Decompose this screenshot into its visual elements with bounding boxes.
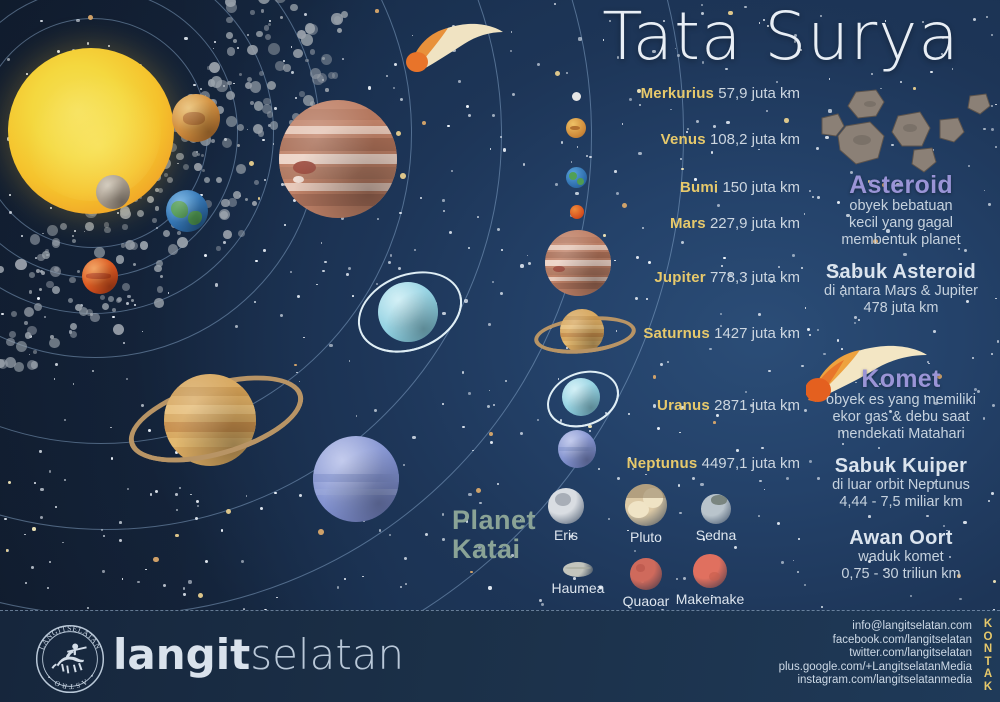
info-block-line: ekor gas & debu saat — [808, 409, 994, 426]
info-block-heading: Asteroid — [808, 172, 994, 198]
dwarf-planet-pluto — [625, 484, 667, 526]
asteroid-belt-rock — [239, 73, 242, 76]
asteroid-belt-rock — [258, 0, 270, 4]
asteroid-belt-rock — [268, 23, 271, 26]
kontak-letter: A — [980, 668, 996, 681]
info-block: Asteroidobyek bebatuankecil yang gagalme… — [808, 172, 994, 250]
planet-distance-row: Mars 227,9 juta km — [670, 216, 800, 231]
asteroid-belt-rock — [9, 331, 16, 338]
asteroid-belt-rock — [247, 45, 258, 56]
asteroid-belt-rock — [238, 230, 245, 237]
asteroid-belt-rock — [160, 275, 163, 278]
dwarf-planet-label: Pluto — [606, 529, 686, 545]
asteroid-belt-rock — [69, 277, 76, 284]
map-planet-mars — [82, 258, 118, 294]
asteroid-belt-rock — [52, 240, 60, 248]
info-block-body: waduk komet0,75 - 30 triliun km — [808, 549, 994, 583]
asteroid-belt-rock — [147, 196, 154, 203]
asteroid-belt-rock — [30, 234, 41, 245]
planet-distance: 227,9 juta km — [706, 215, 800, 232]
asteroid-belt-rock — [137, 210, 144, 217]
asteroid-belt-rock — [176, 153, 184, 161]
info-block-body: di antara Mars & Jupiter478 juta km — [808, 283, 994, 317]
asteroid-belt-rock — [254, 180, 259, 185]
dwarf-planet-item: Makemake — [670, 554, 750, 607]
asteroid-belt-rock — [158, 188, 163, 193]
asteroid-belt-rock — [60, 223, 67, 230]
asteroid-belt-rock — [211, 76, 222, 87]
asteroid-belt-rock — [252, 201, 257, 206]
asteroid-belt-rock — [41, 271, 45, 275]
asteroid-belt-rock — [168, 244, 178, 254]
planet-distance-row: Saturnus 1427 juta km — [643, 326, 800, 341]
dwarf-planet-makemake — [693, 554, 727, 588]
asteroid-belt-rock — [77, 270, 80, 273]
asteroid-belt-rock — [216, 177, 223, 184]
info-block-heading: Komet — [808, 366, 994, 392]
dwarf-planet-label: Sedna — [676, 527, 756, 543]
kontak-letter: K — [980, 618, 996, 631]
asteroid-belt-rock — [222, 138, 232, 148]
asteroid-belt-rock — [75, 304, 82, 311]
asteroid-belt-rock — [34, 303, 42, 311]
planet-distance-row: Venus 108,2 juta km — [661, 132, 800, 147]
info-block-line: mendekati Matahari — [808, 426, 994, 443]
asteroid-belt-rock — [290, 4, 298, 12]
infographic-poster: Tata Surya — [0, 0, 1000, 702]
asteroid-belt-rock — [258, 130, 265, 137]
logo-outer-text: LANGITSELATAN — [37, 624, 104, 651]
asteroid-belt-rock — [122, 283, 130, 291]
asteroid-belt-rock — [24, 307, 34, 317]
asteroid-belt-rock — [131, 299, 134, 302]
map-planet-mercury — [96, 175, 130, 209]
asteroid-belt-rock — [155, 206, 160, 211]
kontak-letter: O — [980, 631, 996, 644]
map-planet-uranus-group — [346, 268, 470, 356]
contact-list: info@langitselatan.comfacebook.com/langi… — [779, 620, 972, 688]
asteroid-belt-rock — [226, 2, 237, 13]
asteroid-belt-rock — [337, 28, 342, 33]
page-title: Tata Surya — [566, 0, 996, 78]
asteroid-belt-rock — [130, 242, 138, 250]
asteroid-belt-rock — [270, 121, 279, 130]
asteroid-belt-rock — [312, 74, 324, 86]
asteroid-belt-rock — [122, 224, 128, 230]
planet-distance: 57,9 juta km — [714, 85, 800, 102]
asteroid-belt-rock — [274, 0, 286, 3]
info-block-body: obyek bebatuankecil yang gagalmembentuk … — [808, 198, 994, 249]
asteroid-belt-rock — [305, 59, 309, 63]
info-block-body: obyek es yang memilikiekor gas & debu sa… — [808, 392, 994, 443]
dwarf-planet-item: Eris — [526, 488, 606, 543]
asteroid-belt-rock — [68, 298, 73, 303]
asteroid-belt-rock — [177, 231, 182, 236]
asteroid-belt-rock — [25, 332, 32, 339]
asteroid-belt-rock — [267, 111, 274, 118]
asteroid-belt-rock — [237, 144, 240, 147]
map-planet-earth — [166, 190, 208, 232]
map-planet-neptune — [313, 436, 399, 522]
dwarf-planet-item: Sedna — [676, 494, 756, 543]
asteroid-belt-rock — [39, 288, 42, 291]
asteroid-belt-rock — [16, 341, 27, 352]
dwarf-planet-label: Makemake — [670, 591, 750, 607]
asteroid-belt-rock — [325, 88, 329, 92]
info-block-line: 478 juta km — [808, 300, 994, 317]
brand-bold: langit — [113, 630, 250, 679]
asteroid-belt-rock — [204, 177, 210, 183]
dwarf-planet-haumea — [563, 562, 593, 577]
info-block-heading: Awan Oort — [808, 528, 994, 549]
info-block-heading: Sabuk Asteroid — [808, 262, 994, 283]
planet-distance-row: Neptunus 4497,1 juta km — [627, 456, 800, 471]
asteroid-belt-rock — [233, 39, 237, 43]
asteroid-belt-rock — [140, 241, 149, 250]
asteroid-belt-rock — [194, 163, 202, 171]
asteroid-belt-rock — [29, 272, 35, 278]
asteroid-belt-rock — [50, 266, 61, 277]
info-block-line: 0,75 - 30 triliun km — [808, 566, 994, 583]
info-block: Sabuk Asteroiddi antara Mars & Jupiter47… — [808, 262, 994, 317]
asteroid-belt-rock — [29, 290, 33, 294]
asteroid-belt-rock — [201, 154, 204, 157]
asteroid-belt-rock — [219, 209, 230, 220]
asteroid-belt-rock — [156, 260, 163, 267]
asteroid-belt-rock — [104, 227, 111, 234]
asteroid-belt-rock — [15, 259, 27, 271]
planet-name: Venus — [661, 131, 706, 148]
info-block: Sabuk Kuiperdi luar orbit Neptunus4,44 -… — [808, 456, 994, 511]
asteroid-belt-rock — [42, 251, 50, 259]
asteroid-belt-rock — [226, 32, 233, 39]
planet-name: Merkurius — [641, 85, 715, 102]
kontak-letter: K — [980, 681, 996, 694]
asteroid-belt-rock — [154, 298, 164, 308]
info-block-line: waduk komet — [808, 549, 994, 566]
asteroid-belt-rock — [157, 286, 164, 293]
planet-distance: 4497,1 juta km — [697, 455, 800, 472]
asteroid-belt-rock — [236, 164, 246, 174]
dwarf-planet-sedna — [701, 494, 731, 524]
svg-text:LANGITSELATAN: LANGITSELATAN — [37, 624, 104, 651]
asteroid-belt-rock — [121, 243, 126, 248]
asteroid-belt-rock — [261, 9, 265, 13]
asteroid-belt-rock — [113, 324, 124, 335]
asteroid-belt-rock — [254, 101, 264, 111]
asteroid-belt-rock — [256, 31, 263, 38]
asteroid-belt-rock — [310, 49, 316, 55]
planet-distance: 778,3 juta km — [706, 269, 800, 286]
asteroid-belt-rock — [116, 255, 125, 264]
asteroid-belt-rock — [6, 338, 15, 347]
asteroid-belt-rock — [163, 230, 170, 237]
dwarf-planet-eris — [548, 488, 584, 524]
asteroid-belt-rock — [228, 198, 237, 207]
brand-wordmark: langitselatan — [113, 632, 404, 678]
planet-distance: 1427 juta km — [710, 325, 800, 342]
asteroid-belt-rock — [202, 169, 206, 173]
asteroid-belt-rock — [267, 81, 276, 90]
info-block-line: di antara Mars & Jupiter — [808, 283, 994, 300]
info-block-line: obyek bebatuan — [808, 198, 994, 215]
planet-name: Mars — [670, 215, 706, 232]
asteroid-belt-rock — [216, 246, 220, 250]
asteroid-belt-rock — [227, 81, 232, 86]
planet-name: Jupiter — [654, 269, 705, 286]
planet-distance: 108,2 juta km — [706, 131, 800, 148]
asteroid-belt-rock — [237, 124, 244, 131]
asteroid-belt-rock — [11, 311, 17, 317]
asteroid-belt-rock — [36, 269, 40, 273]
dwarf-planet-label: Eris — [526, 527, 606, 543]
asteroid-belt-rock — [85, 222, 94, 231]
asteroid-belt-rock — [293, 49, 303, 59]
brand-light: selatan — [250, 630, 404, 679]
info-block: Awan Oortwaduk komet0,75 - 30 triliun km — [808, 528, 994, 583]
asteroid-belt-rock — [133, 263, 136, 266]
asteroid-belt-rock — [27, 360, 37, 370]
info-block-line: obyek es yang memiliki — [808, 392, 994, 409]
contact-line[interactable]: info@langitselatan.com — [779, 620, 972, 634]
logo-inner-text: • ASTRO • — [44, 672, 96, 691]
kontak-letter: N — [980, 643, 996, 656]
planet-distance-row: Merkurius 57,9 juta km — [641, 86, 800, 101]
planet-name: Neptunus — [627, 455, 698, 472]
asteroid-belt-rock — [341, 11, 348, 18]
asteroid-belt-rock — [263, 98, 271, 106]
footer-divider — [0, 610, 1000, 611]
asteroid-belt-rock — [264, 25, 269, 30]
asteroid-belt-rock — [306, 24, 318, 36]
planet-distance-row: Bumi 150 juta km — [680, 180, 800, 195]
dwarf-planet-item: Pluto — [606, 484, 686, 545]
planet-distance-row: Uranus 2871 juta km — [657, 398, 800, 413]
langitselatan-logo: LANGITSELATAN • ASTRO • — [33, 622, 107, 696]
asteroid-belt-rock — [49, 338, 60, 349]
logo-centaur-figure — [52, 643, 87, 673]
asteroid-belt-rock — [46, 281, 53, 288]
asteroid-belt-rock — [209, 62, 220, 73]
svg-text:• ASTRO •: • ASTRO • — [44, 672, 96, 691]
asteroid-belt-rock — [226, 91, 235, 100]
planet-name: Uranus — [657, 397, 710, 414]
asteroid-belt-rock — [211, 139, 215, 143]
info-block-body: di luar orbit Neptunus4,44 - 7,5 miliar … — [808, 477, 994, 511]
info-block-line: membentuk planet — [808, 232, 994, 249]
asteroid-belt-rock — [47, 225, 58, 236]
asteroid-belt-rock — [280, 16, 283, 19]
asteroid-belt-rock — [245, 198, 248, 201]
asteroid-belt-rock — [108, 296, 114, 302]
asteroid-belt-rock — [268, 43, 280, 55]
contact-line[interactable]: facebook.com/langitselatan — [779, 634, 972, 648]
asteroid-belt-rock — [70, 323, 77, 330]
asteroid-belt-rock — [52, 286, 60, 294]
info-block-line: kecil yang gagal — [808, 215, 994, 232]
asteroid-belt-rock — [283, 64, 291, 72]
asteroid-belt-rock — [177, 237, 188, 248]
asteroid-belt-rock — [226, 17, 233, 24]
asteroid-belt-rock — [72, 239, 76, 243]
asteroid-belt-rock — [265, 34, 272, 41]
asteroid-belt-rock — [223, 230, 232, 239]
map-planet-jupiter — [279, 100, 397, 218]
asteroid-belt-rock — [332, 72, 339, 79]
asteroid-belt-rock — [24, 321, 28, 325]
map-planet-saturn-group — [118, 358, 308, 488]
asteroid-belt-rock — [152, 218, 157, 223]
contact-line[interactable]: plus.google.com/+LangitselatanMedia — [779, 661, 972, 675]
asteroid-belt-rock — [197, 153, 200, 156]
contact-line[interactable]: instagram.com/langitselatanmedia — [779, 674, 972, 688]
asteroid-belt-rock — [250, 101, 254, 105]
planet-distance-row: Jupiter 778,3 juta km — [654, 270, 800, 285]
planet-name: Bumi — [680, 179, 718, 196]
planet-distance: 150 juta km — [718, 179, 800, 196]
planet-distance: 2871 juta km — [710, 397, 800, 414]
asteroid-belt-rock — [102, 303, 109, 310]
contact-line[interactable]: twitter.com/langitselatan — [779, 647, 972, 661]
asteroid-belt-rock — [50, 335, 54, 339]
info-block-line: di luar orbit Neptunus — [808, 477, 994, 494]
map-planet-venus — [172, 94, 220, 142]
asteroid-belt-rock — [259, 71, 264, 76]
kontak-vertical-label: KONTAK — [980, 618, 996, 694]
sun — [8, 48, 174, 214]
asteroid-belt-rock — [183, 164, 189, 170]
planet-name: Saturnus — [643, 325, 710, 342]
asteroid-belt-rock — [245, 82, 252, 89]
info-block-line: 4,44 - 7,5 miliar km — [808, 494, 994, 511]
asteroid-belt-rock — [70, 331, 77, 338]
comet-illustration-map — [406, 18, 506, 76]
asteroid-illustration — [818, 88, 994, 180]
asteroid-belt-rock — [100, 295, 105, 300]
asteroid-belt-rock — [112, 308, 116, 312]
asteroid-belt-rock — [297, 30, 306, 39]
info-block: Kometobyek es yang memilikiekor gas & de… — [808, 366, 994, 444]
asteroid-belt-rock — [0, 266, 4, 273]
asteroid-belt-rock — [33, 350, 37, 354]
asteroid-belt-rock — [94, 247, 105, 258]
info-block-heading: Sabuk Kuiper — [808, 456, 994, 477]
asteroid-belt-rock — [167, 177, 174, 184]
asteroid-belt-rock — [250, 81, 261, 92]
asteroid-belt-rock — [226, 116, 237, 127]
asteroid-belt-rock — [116, 298, 121, 303]
asteroid-belt-rock — [227, 47, 236, 56]
dwarf-planet-quaoar — [630, 558, 662, 590]
asteroid-belt-rock — [250, 10, 255, 15]
kontak-letter: T — [980, 656, 996, 669]
